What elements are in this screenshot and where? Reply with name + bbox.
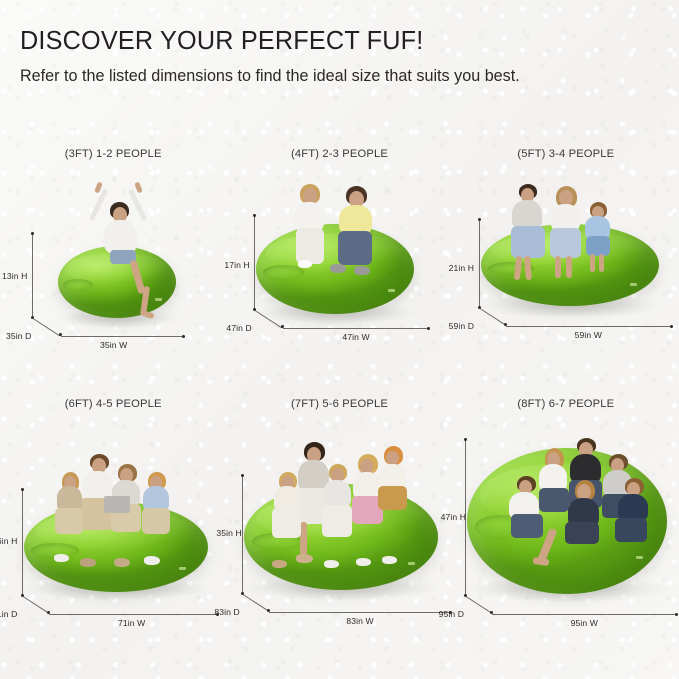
person-jeans	[511, 226, 545, 258]
height-label-7ft: 35in H	[216, 528, 241, 538]
height-dot-top	[241, 474, 244, 477]
person-torso-striped	[323, 480, 351, 508]
size-cell-7ft[interactable]: (7FT) 5-6 PEOPLE	[226, 390, 452, 640]
height-label-5ft: 21in H	[449, 263, 474, 273]
depth-label-3ft: 35in D	[6, 331, 31, 341]
person-shoe	[296, 554, 313, 563]
height-dot-top	[253, 214, 256, 217]
size-cell-3ft[interactable]: (3FT) 1-2 PEOPLE	[0, 140, 226, 390]
person-arm-right	[128, 189, 147, 222]
depth-label-4ft: 47in D	[226, 323, 251, 333]
product-stage-7ft: 35in H 83in D 83in W	[226, 418, 452, 640]
product-stage-3ft: 13in H 35in D 35in W	[0, 168, 226, 390]
person-shoe	[144, 556, 160, 565]
height-line-6ft	[22, 490, 23, 596]
width-line-3ft	[61, 336, 184, 337]
person-shoe	[382, 556, 397, 564]
depth-line-3ft	[33, 318, 60, 336]
height-label-6ft: 26in H	[0, 536, 17, 546]
bag-tag	[408, 562, 415, 565]
page-title: DISCOVER YOUR PERFECT FUF!	[20, 26, 621, 54]
height-line-7ft	[242, 476, 243, 594]
person-leg	[566, 256, 572, 278]
width-label-3ft: 35in W	[100, 340, 127, 350]
bag-tag	[630, 283, 637, 286]
person-shoe	[324, 560, 339, 568]
person-pants	[55, 508, 83, 534]
size-cell-8ft[interactable]: (8FT) 6-7 PEOPLE	[453, 390, 679, 640]
bag-tag	[155, 298, 162, 301]
person-leg	[300, 522, 307, 556]
bag-tag	[388, 289, 395, 292]
size-label-3ft: (3FT) 1-2 PEOPLE	[0, 148, 226, 160]
width-line-8ft	[492, 614, 677, 615]
width-label-6ft: 71in W	[118, 618, 145, 628]
size-cell-6ft[interactable]: (6FT) 4-5 PEOPLE	[0, 390, 226, 640]
depth-label-5ft: 59in D	[449, 321, 474, 331]
product-stage-6ft: 26in H 71in D 71in W	[0, 418, 226, 640]
person-legs	[296, 228, 324, 264]
person-shoe	[356, 558, 371, 566]
depth-line-7ft	[243, 594, 269, 611]
bag-tag	[179, 567, 186, 570]
height-line-5ft	[479, 220, 480, 308]
person-jeans	[615, 518, 647, 542]
product-stage-4ft: 17in H 47in D 47in W	[226, 168, 452, 390]
size-label-8ft: (8FT) 6-7 PEOPLE	[453, 398, 679, 410]
depth-label-6ft: 71in D	[0, 609, 17, 619]
person-pants	[142, 508, 170, 534]
person-leg	[555, 256, 561, 278]
bag-fold	[263, 265, 304, 279]
size-label-6ft: (6FT) 4-5 PEOPLE	[0, 398, 226, 410]
width-dot-right	[182, 335, 185, 338]
height-dot-top	[31, 232, 34, 235]
person-jeans	[338, 231, 372, 265]
person-jeans	[511, 514, 543, 538]
person-leg	[590, 254, 595, 272]
height-dot-top	[21, 488, 24, 491]
person-shoe	[54, 554, 69, 562]
height-line-4ft	[254, 216, 255, 310]
person-shoe	[272, 560, 287, 568]
width-line-5ft	[506, 326, 672, 327]
product-stage-5ft: 21in H 59in D 59in W	[453, 168, 679, 390]
width-dot-right	[670, 325, 673, 328]
depth-line-6ft	[23, 596, 49, 613]
product-stage-8ft: 47in H 95in D 95in W	[453, 418, 679, 640]
bag-fold	[63, 279, 94, 291]
person-shorts	[378, 486, 407, 510]
height-dot-top	[478, 218, 481, 221]
person-jeans	[539, 488, 569, 512]
width-label-4ft: 47in W	[342, 332, 369, 342]
size-cell-5ft[interactable]: (5FT) 3-4 PEOPLE	[453, 140, 679, 390]
width-label-8ft: 95in W	[571, 618, 598, 628]
height-label-8ft: 47in H	[441, 512, 466, 522]
person-shoe	[298, 260, 312, 268]
person-arm-left	[89, 189, 108, 222]
person-torso	[104, 220, 137, 254]
width-dot-right	[427, 327, 430, 330]
size-label-7ft: (7FT) 5-6 PEOPLE	[226, 398, 452, 410]
header: DISCOVER YOUR PERFECT FUF! Refer to the …	[20, 26, 640, 89]
size-cell-4ft[interactable]: (4FT) 2-3 PEOPLE	[226, 140, 452, 390]
width-line-4ft	[283, 328, 429, 329]
height-label-3ft: 13in H	[2, 271, 27, 281]
depth-line-8ft	[465, 596, 491, 613]
person-pants	[272, 508, 301, 538]
page-subtitle: Refer to the listed dimensions to find t…	[20, 65, 569, 88]
width-dot-right	[675, 613, 678, 616]
person-shoe	[80, 558, 96, 567]
depth-label-8ft: 95in D	[439, 609, 464, 619]
width-label-5ft: 59in W	[575, 330, 602, 340]
width-line-7ft	[269, 612, 451, 613]
person-skirt	[565, 522, 599, 544]
height-label-4ft: 17in H	[224, 260, 249, 270]
person-shoe	[114, 558, 130, 567]
width-label-7ft: 83in W	[346, 616, 373, 626]
person-jeans	[550, 228, 581, 258]
height-dot-top	[464, 438, 467, 441]
size-chart-grid: (3FT) 1-2 PEOPLE	[0, 140, 679, 640]
person-shorts	[586, 236, 610, 256]
depth-label-7ft: 83in D	[214, 607, 239, 617]
bag-tag	[636, 556, 643, 559]
size-label-4ft: (4FT) 2-3 PEOPLE	[226, 148, 452, 160]
tablet-device	[104, 496, 130, 513]
person-shoe	[330, 264, 346, 273]
size-label-5ft: (5FT) 3-4 PEOPLE	[453, 148, 679, 160]
person-hand-right	[134, 181, 143, 193]
person-leg	[599, 254, 604, 272]
person-shoe	[354, 266, 370, 275]
person-pants	[322, 505, 352, 537]
width-line-6ft	[49, 614, 218, 615]
height-line-3ft	[32, 234, 33, 318]
